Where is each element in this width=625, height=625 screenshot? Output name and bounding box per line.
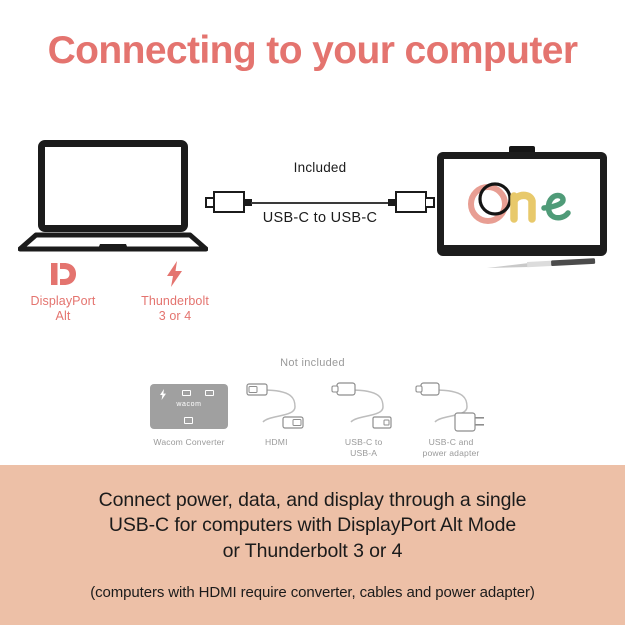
page-title: Connecting to your computer xyxy=(0,30,625,73)
bolt-icon xyxy=(159,389,167,400)
port-label-line1: Thunderbolt xyxy=(141,294,209,308)
laptop-base xyxy=(18,232,208,252)
wacom-converter-box: wacom xyxy=(150,384,228,429)
accessory-label: USB-C to USB-A xyxy=(325,437,403,459)
accessory-label: Wacom Converter xyxy=(150,437,228,448)
port-label-line2: Alt xyxy=(56,309,71,323)
accessory-label-line2: power adapter xyxy=(423,448,480,458)
port-icon-b xyxy=(205,390,214,397)
wacom-one-display-illustration xyxy=(437,152,607,256)
port-label-displayport: DisplayPort Alt xyxy=(8,294,118,325)
port-label-thunderbolt: Thunderbolt 3 or 4 xyxy=(120,294,230,325)
port-icon-c xyxy=(184,417,193,424)
thunderbolt-icon xyxy=(120,258,230,290)
usb-c-power-adapter-icon xyxy=(412,376,490,436)
accessory-label: USB-C and power adapter xyxy=(412,437,490,459)
included-cable-illustration: Included USB-C to USB-C xyxy=(205,178,435,238)
not-included-title: Not included xyxy=(0,357,625,369)
band-main-line3: or Thunderbolt 3 or 4 xyxy=(223,540,403,562)
band-note-text: (computers with HDMI require converter, … xyxy=(18,583,608,603)
accessory-label-line1: Wacom Converter xyxy=(153,437,224,447)
cable-wire xyxy=(251,202,389,204)
port-label-line1: DisplayPort xyxy=(30,294,95,308)
accessory-usb-c-to-usb-a: USB-C to USB-A xyxy=(325,376,403,459)
band-main-line1: Connect power, data, and display through… xyxy=(99,489,527,511)
displayport-icon xyxy=(8,258,118,290)
accessory-label-line1: USB-C and xyxy=(429,437,474,447)
stylus-illustration xyxy=(485,258,597,272)
band-main-line2: USB-C for computers with DisplayPort Alt… xyxy=(109,514,516,536)
port-label-line2: 3 or 4 xyxy=(159,309,192,323)
accessory-row: wacom Wacom Converter HDMI xyxy=(150,376,490,454)
usb-c-tip-right xyxy=(426,197,435,208)
accessory-hdmi: HDMI xyxy=(237,376,315,448)
cable-nub-right xyxy=(388,199,395,206)
accessory-label-line1: HDMI xyxy=(265,437,288,447)
wacom-brand-text: wacom xyxy=(150,401,228,408)
cable-sublabel: USB-C to USB-C xyxy=(205,210,435,226)
bottom-band: Connect power, data, and display through… xyxy=(0,465,625,625)
one-logo xyxy=(462,179,582,225)
accessory-label: HDMI xyxy=(237,437,315,448)
wacom-converter-icon: wacom xyxy=(150,376,228,436)
accessory-label-line1: USB-C to xyxy=(345,437,383,447)
tablet-screen xyxy=(444,159,600,245)
band-main-text: Connect power, data, and display through… xyxy=(28,488,598,565)
laptop-illustration xyxy=(18,140,208,252)
port-icon-a xyxy=(182,390,191,397)
accessory-wacom-converter: wacom Wacom Converter xyxy=(150,376,228,448)
hdmi-cable-icon xyxy=(237,376,315,436)
tablet-bezel xyxy=(437,152,607,256)
laptop-screen xyxy=(38,140,188,232)
accessory-label-line2: USB-A xyxy=(350,448,377,458)
port-group-thunderbolt: Thunderbolt 3 or 4 xyxy=(120,258,230,325)
cable-label: Included xyxy=(205,160,435,175)
usb-c-to-usb-a-cable-icon xyxy=(325,376,403,436)
accessory-usb-c-power-adapter: USB-C and power adapter xyxy=(412,376,490,459)
port-group-displayport: DisplayPort Alt xyxy=(8,258,118,325)
